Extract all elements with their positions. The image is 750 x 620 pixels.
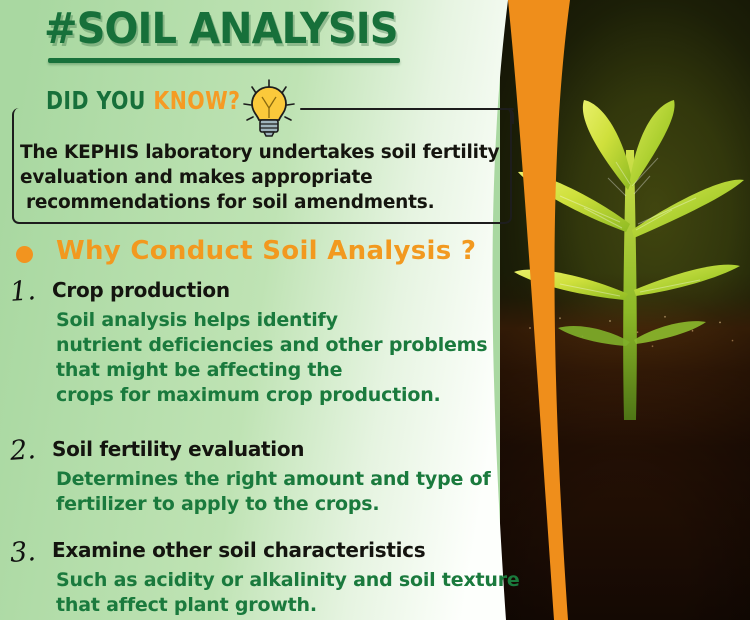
list-item-heading: Soil fertility evaluation	[52, 437, 304, 461]
panel-content: #SOIL ANALYSIS DID YOU KNOW?	[0, 0, 545, 620]
soil-analysis-poster: #SOIL ANALYSIS DID YOU KNOW?	[0, 0, 750, 620]
list-item-heading: Examine other soil characteristics	[52, 538, 425, 562]
list-item-body-line: fertilizer to apply to the crops.	[56, 492, 491, 517]
list-item-body: Such as acidity or alkalinity and soil t…	[56, 568, 520, 618]
fact-box-top-rail	[300, 108, 514, 110]
fact-line-2: evaluation and makes appropriate	[20, 165, 512, 190]
list-item-body-line: that affect plant growth.	[56, 593, 520, 618]
list-item-body-line: Soil analysis helps identify	[56, 308, 487, 333]
list-item-body-line: Determines the right amount and type of	[56, 467, 491, 492]
section-bullet-icon	[16, 246, 33, 263]
fact-line-3: recommendations for soil amendments.	[20, 190, 512, 215]
fact-text: The KEPHIS laboratory undertakes soil fe…	[20, 140, 512, 215]
list-item-body-line: that might be affecting the	[56, 358, 487, 383]
list-item-number: 3.	[9, 536, 37, 569]
section-heading: Why Conduct Soil Analysis ?	[56, 236, 476, 266]
list-item-number: 2.	[9, 434, 37, 467]
list-item-body-line: crops for maximum crop production.	[56, 383, 487, 408]
list-item-body: Soil analysis helps identify nutrient de…	[56, 308, 487, 408]
list-item-body-line: Such as acidity or alkalinity and soil t…	[56, 568, 520, 593]
list-item-number: 1.	[9, 275, 37, 308]
list-item-body-line: nutrient deficiencies and other problems	[56, 333, 487, 358]
fact-line-1: The KEPHIS laboratory undertakes soil fe…	[20, 140, 512, 165]
fact-box-corner	[498, 108, 514, 124]
title-underline	[48, 58, 400, 63]
list-item-heading: Crop production	[52, 278, 230, 302]
list-item-body: Determines the right amount and type of …	[56, 467, 491, 517]
page-title: #SOIL ANALYSIS	[44, 4, 398, 54]
